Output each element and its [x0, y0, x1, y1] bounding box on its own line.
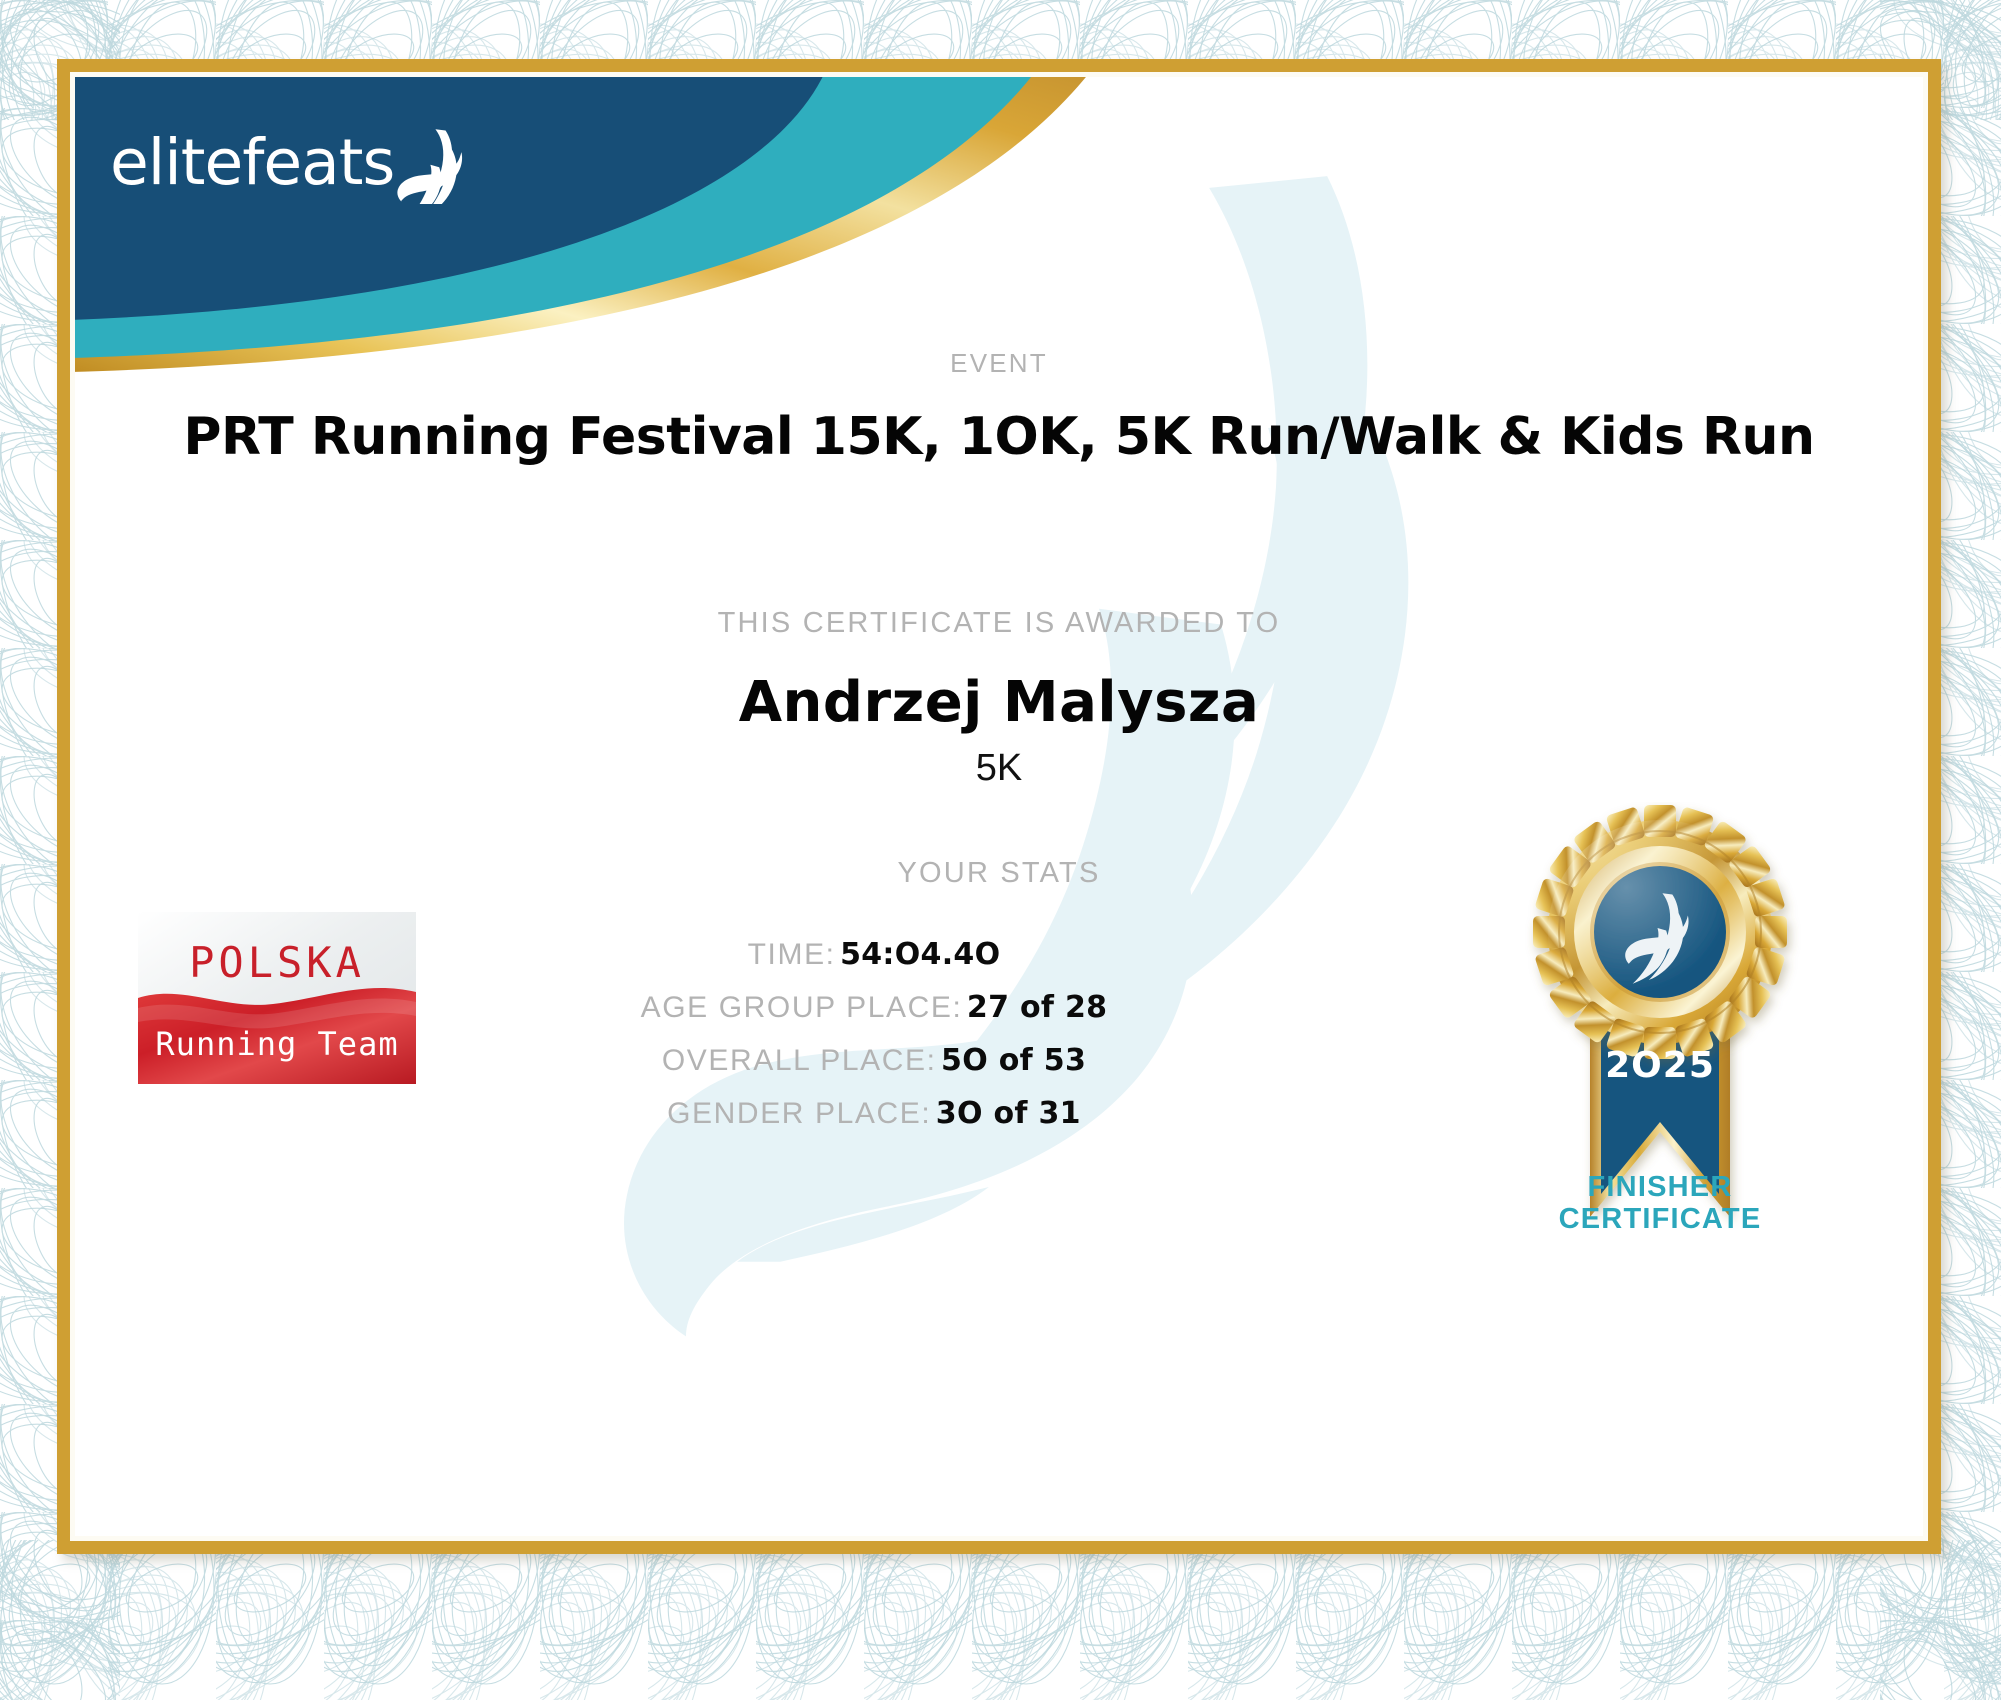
- stat-value: 3O of 31: [936, 1096, 1081, 1131]
- event-title: PRT Running Festival 15K, 1OK, 5K Run/Wa…: [70, 407, 1928, 467]
- stat-value: 54:O4.4O: [840, 937, 1000, 972]
- stat-key: OVERALL PLACE:: [662, 1044, 937, 1077]
- medal-year: 2O25: [1605, 1045, 1715, 1086]
- certificate-frame: elitefeats EVENT PRT Running Festival 15…: [57, 59, 1941, 1554]
- team-logo-line1: POLSKA: [189, 938, 365, 987]
- finisher-caption-line2: CERTIFICATE: [1500, 1204, 1820, 1236]
- event-label: EVENT: [70, 348, 1928, 379]
- stat-value: 5O of 53: [941, 1043, 1086, 1078]
- team-logo-line2: Running Team: [155, 1025, 398, 1063]
- finisher-certificate-caption: FINISHER CERTIFICATE: [1500, 1172, 1820, 1236]
- stat-key: TIME:: [748, 938, 836, 971]
- team-logo-polska-running-team: POLSKA Running Team: [138, 912, 416, 1084]
- recipient-name: Andrzej Malysza: [70, 670, 1928, 735]
- race-distance: 5K: [70, 747, 1928, 790]
- stat-key: AGE GROUP PLACE:: [641, 991, 963, 1024]
- stat-key: GENDER PLACE:: [667, 1097, 931, 1130]
- awarded-to-label: THIS CERTIFICATE IS AWARDED TO: [70, 607, 1928, 640]
- finisher-caption-line1: FINISHER: [1500, 1172, 1820, 1204]
- stat-value: 27 of 28: [967, 990, 1107, 1025]
